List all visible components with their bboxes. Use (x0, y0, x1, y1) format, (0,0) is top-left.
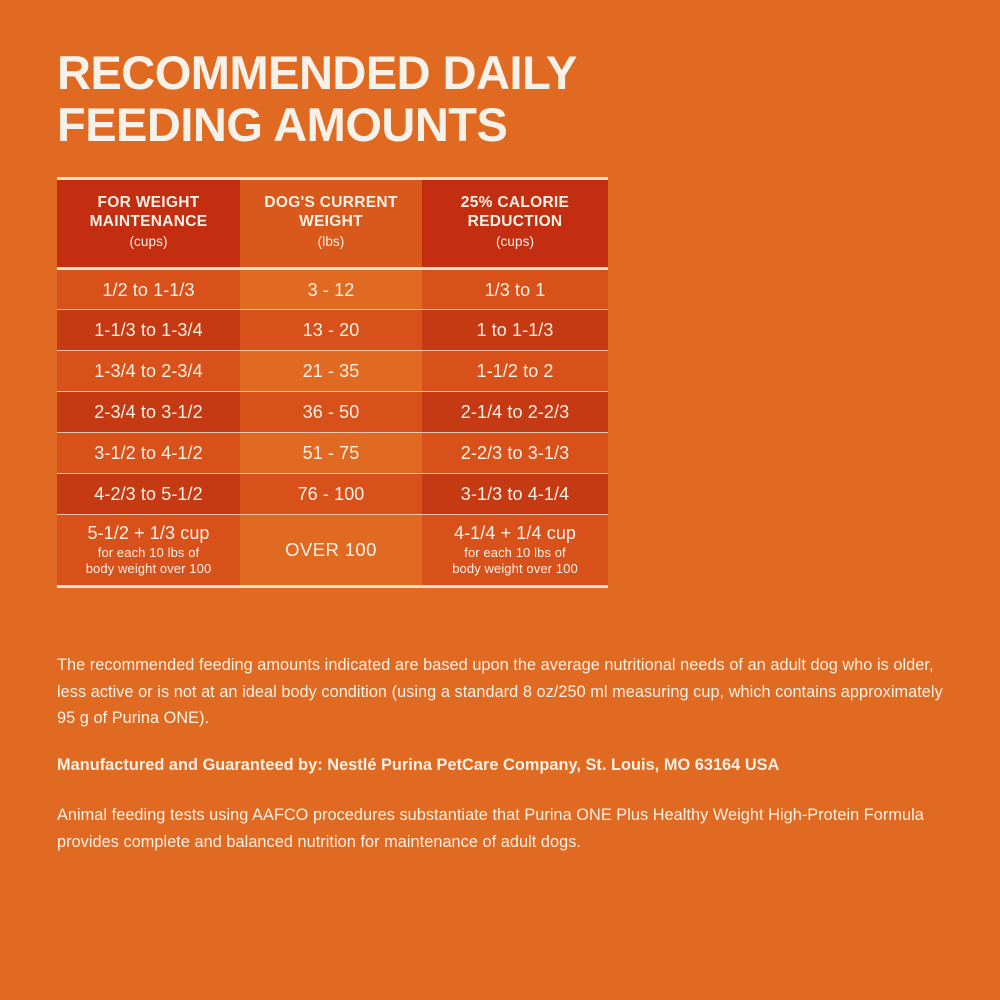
cell-reduction: 2-2/3 to 3-1/3 (422, 433, 608, 474)
column-header-line-1: FOR WEIGHT (97, 194, 199, 211)
column-header-weight-maintenance: FOR WEIGHT MAINTENANCE (cups) (57, 179, 240, 269)
table-row-over-100: 5-1/2 + 1/3 cup for each 10 lbs of body … (57, 515, 608, 587)
table-row: 1-3/4 to 2-3/4 21 - 35 1-1/2 to 2 (57, 351, 608, 392)
cell-reduction: 1-1/2 to 2 (422, 351, 608, 392)
column-header-current-weight: DOG'S CURRENT WEIGHT (lbs) (240, 179, 422, 269)
cell-reduction-sub-1: for each 10 lbs of (426, 545, 604, 561)
cell-reduction-over-100: 4-1/4 + 1/4 cup for each 10 lbs of body … (422, 515, 608, 587)
cell-weight: 21 - 35 (240, 351, 422, 392)
feeding-amounts-table: FOR WEIGHT MAINTENANCE (cups) DOG'S CURR… (57, 177, 608, 588)
cell-maintenance-over-100: 5-1/2 + 1/3 cup for each 10 lbs of body … (57, 515, 240, 587)
cell-weight: 3 - 12 (240, 269, 422, 310)
column-header-calorie-reduction: 25% CALORIE REDUCTION (cups) (422, 179, 608, 269)
cell-weight-value: OVER 100 (244, 538, 418, 561)
feeding-note-text: The recommended feeding amounts indicate… (57, 652, 952, 732)
cell-reduction: 3-1/3 to 4-1/4 (422, 474, 608, 515)
column-header-line-1: DOG'S CURRENT (264, 194, 397, 211)
feeding-note: The recommended feeding amounts indicate… (57, 652, 952, 732)
table-row: 3-1/2 to 4-1/2 51 - 75 2-2/3 to 3-1/3 (57, 433, 608, 474)
cell-weight-over-100: OVER 100 (240, 515, 422, 587)
cell-maintenance: 1/2 to 1-1/3 (57, 269, 240, 310)
cell-maintenance-main: 5-1/2 + 1/3 cup (61, 522, 236, 545)
cell-maintenance-sub-2: body weight over 100 (61, 561, 236, 577)
cell-reduction-main: 4-1/4 + 1/4 cup (426, 522, 604, 545)
column-header-line-2: WEIGHT (299, 213, 363, 230)
page-title: RECOMMENDED DAILY FEEDING AMOUNTS (57, 47, 757, 151)
table-row: 1-1/3 to 1-3/4 13 - 20 1 to 1-1/3 (57, 310, 608, 351)
column-header-line-2: REDUCTION (468, 213, 563, 230)
feeding-guide-page: RECOMMENDED DAILY FEEDING AMOUNTS FOR WE… (0, 0, 1000, 1000)
cell-maintenance: 4-2/3 to 5-1/2 (57, 474, 240, 515)
cell-weight: 76 - 100 (240, 474, 422, 515)
table-body: 1/2 to 1-1/3 3 - 12 1/3 to 1 1-1/3 to 1-… (57, 269, 608, 587)
cell-maintenance: 1-3/4 to 2-3/4 (57, 351, 240, 392)
cell-maintenance: 2-3/4 to 3-1/2 (57, 392, 240, 433)
table-row: 1/2 to 1-1/3 3 - 12 1/3 to 1 (57, 269, 608, 310)
aafco-statement: Animal feeding tests using AAFCO procedu… (57, 802, 952, 855)
cell-reduction: 2-1/4 to 2-2/3 (422, 392, 608, 433)
cell-weight: 13 - 20 (240, 310, 422, 351)
table-row: 2-3/4 to 3-1/2 36 - 50 2-1/4 to 2-2/3 (57, 392, 608, 433)
cell-reduction: 1 to 1-1/3 (422, 310, 608, 351)
manufacturer-note-text: Manufactured and Guaranteed by: Nestlé P… (57, 752, 952, 779)
table-row: 4-2/3 to 5-1/2 76 - 100 3-1/3 to 4-1/4 (57, 474, 608, 515)
cell-weight: 36 - 50 (240, 392, 422, 433)
column-header-unit: (cups) (428, 231, 602, 253)
cell-reduction-sub-2: body weight over 100 (426, 561, 604, 577)
cell-weight: 51 - 75 (240, 433, 422, 474)
page-title-line-1: RECOMMENDED DAILY (57, 47, 757, 99)
column-header-line-2: MAINTENANCE (90, 213, 208, 230)
cell-maintenance: 1-1/3 to 1-3/4 (57, 310, 240, 351)
cell-maintenance-sub-1: for each 10 lbs of (61, 545, 236, 561)
column-header-line-1: 25% CALORIE (461, 194, 569, 211)
aafco-statement-text: Animal feeding tests using AAFCO procedu… (57, 802, 952, 855)
table-header-row: FOR WEIGHT MAINTENANCE (cups) DOG'S CURR… (57, 179, 608, 269)
page-title-line-2: FEEDING AMOUNTS (57, 99, 757, 151)
column-header-unit: (cups) (63, 231, 234, 253)
table-header: FOR WEIGHT MAINTENANCE (cups) DOG'S CURR… (57, 179, 608, 269)
column-header-unit: (lbs) (246, 231, 416, 253)
cell-maintenance: 3-1/2 to 4-1/2 (57, 433, 240, 474)
cell-reduction: 1/3 to 1 (422, 269, 608, 310)
manufacturer-note: Manufactured and Guaranteed by: Nestlé P… (57, 752, 952, 779)
